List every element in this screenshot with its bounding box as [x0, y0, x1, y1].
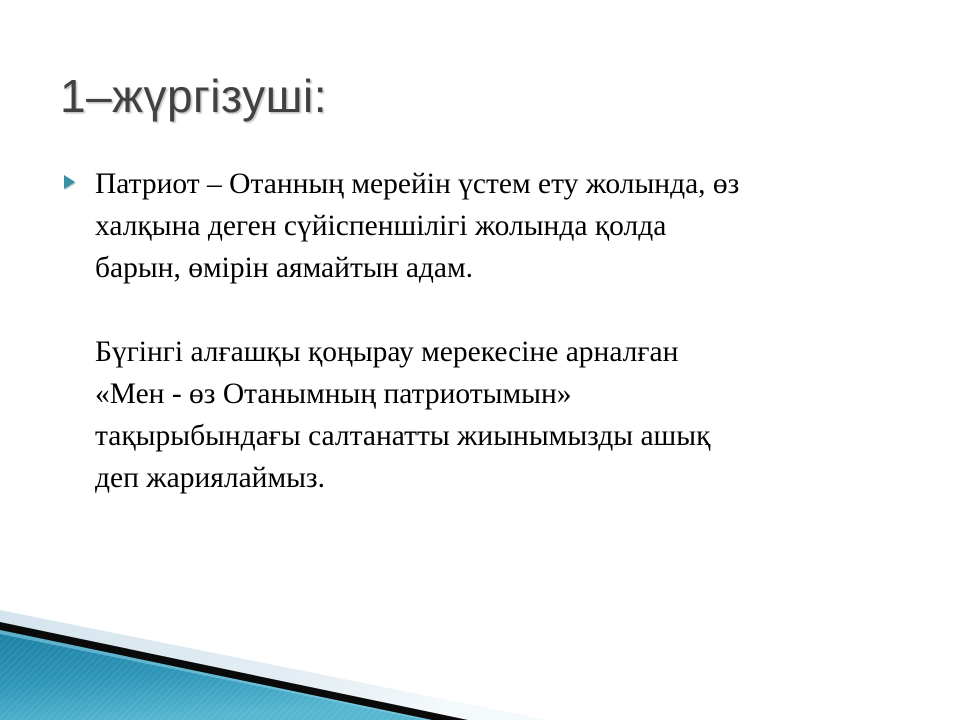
slide-canvas: 1–жүргізуші: Патриот – Отанның мерейін ү… — [0, 0, 960, 720]
paragraph-2-line-2: «Мен - өз Отанымның патриотымын» — [95, 373, 922, 415]
paragraph-spacer — [62, 289, 922, 331]
body-text-block: Патриот – Отанның мерейін үстем ету жолы… — [62, 163, 922, 499]
paragraph-1-line-1: Патриот – Отанның мерейін үстем ету жолы… — [95, 163, 922, 205]
paragraph-1-line-2: халқына деген сүйіспеншілігі жолында қол… — [95, 205, 922, 247]
paragraph-2: Бүгінгі алғашқы қоңырау мерекесіне арнал… — [62, 331, 922, 499]
angles-theme-corner-graphic — [0, 590, 620, 720]
page-title: 1–жүргізуші: — [60, 72, 900, 120]
bullet-paragraph-1: Патриот – Отанның мерейін үстем ету жолы… — [62, 163, 922, 289]
triangle-right-bullet-icon — [64, 175, 75, 189]
paragraph-2-line-1: Бүгінгі алғашқы қоңырау мерекесіне арнал… — [95, 331, 922, 373]
paragraph-1-line-3: барын, өмірін аямайтын адам. — [95, 247, 922, 289]
paragraph-2-line-3: тақырыбындағы салтанатты жиынымызды ашық — [95, 415, 922, 457]
paragraph-2-line-4: деп жариялаймыз. — [95, 457, 922, 499]
